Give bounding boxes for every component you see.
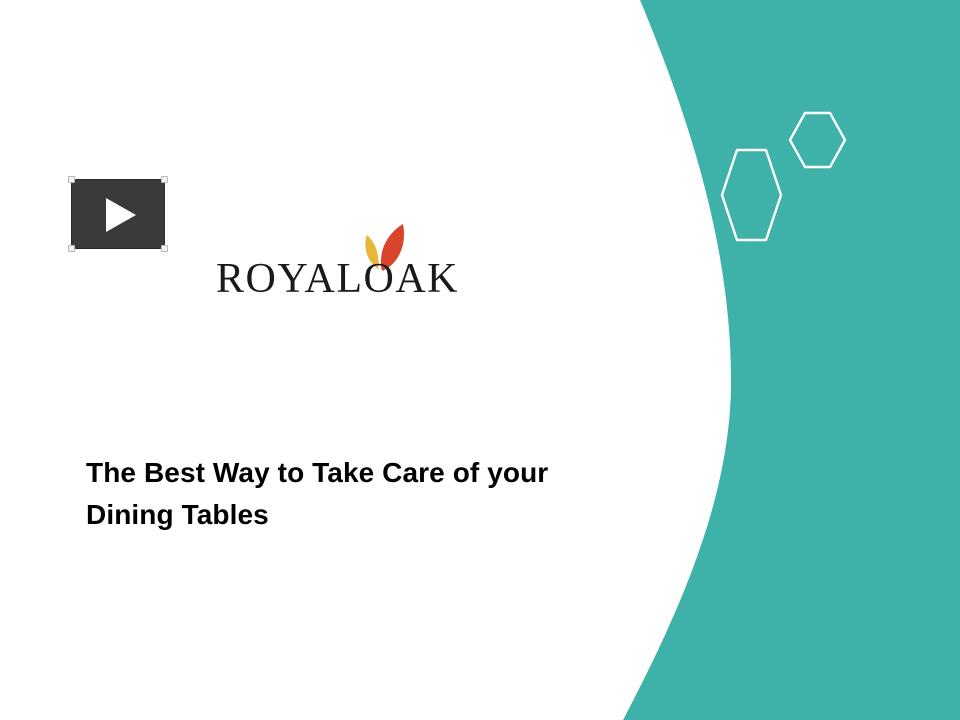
play-icon[interactable] xyxy=(106,198,136,232)
presentation-slide: ROYALOAK The Best Way to Take Care of yo… xyxy=(0,0,960,720)
resize-handle-top-right[interactable] xyxy=(161,176,168,183)
resize-handle-bottom-left[interactable] xyxy=(68,245,75,252)
hexagon-small-icon xyxy=(790,113,845,167)
logo-wordmark: ROYALOAK xyxy=(216,258,459,300)
video-placeholder[interactable] xyxy=(68,176,168,252)
slide-title: The Best Way to Take Care of your Dining… xyxy=(86,452,586,536)
resize-handle-bottom-right[interactable] xyxy=(161,245,168,252)
hexagon-decoration-group xyxy=(700,95,870,260)
hexagon-large-icon xyxy=(722,150,781,240)
video-frame[interactable] xyxy=(72,180,164,248)
resize-handle-top-left[interactable] xyxy=(68,176,75,183)
brand-logo: ROYALOAK xyxy=(216,222,416,307)
